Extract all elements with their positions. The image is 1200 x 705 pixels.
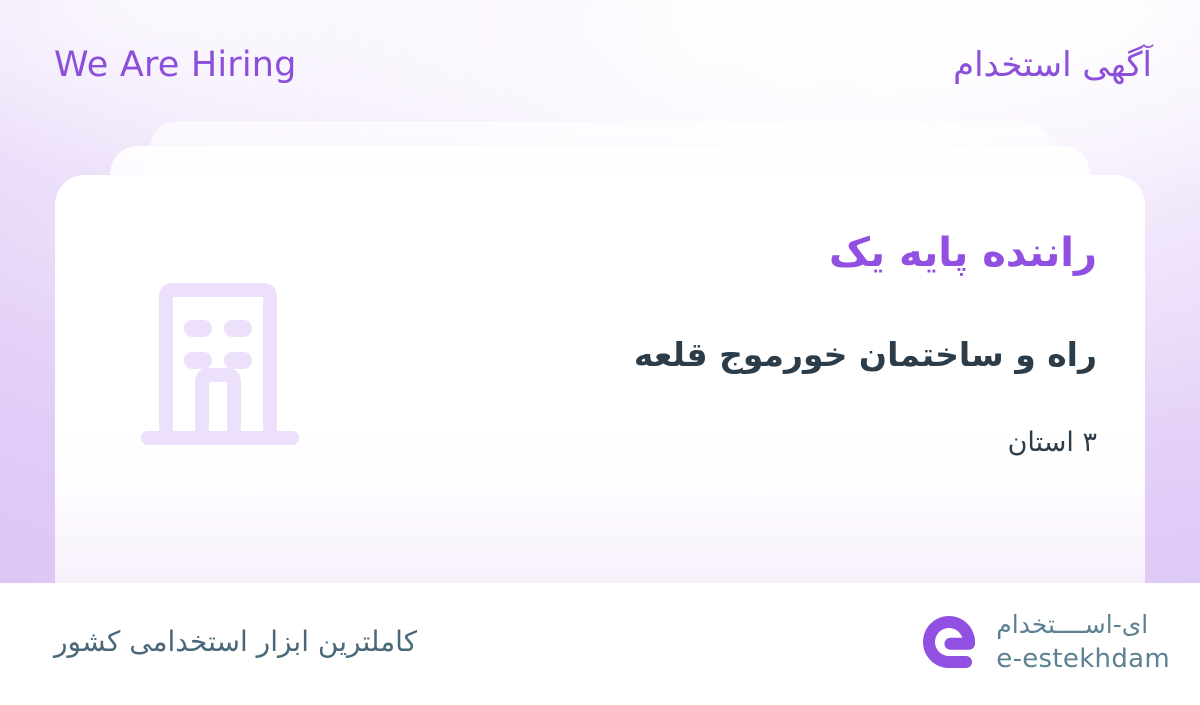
e-estekhdam-logo-mark-icon: [918, 611, 980, 673]
job-location: ۳ استان: [397, 423, 1097, 463]
job-ad-details: راننده پایه یک راه و ساختمان خورموج قلعه…: [397, 225, 1097, 463]
job-title: راننده پایه یک: [397, 225, 1097, 281]
footer-tagline: کاملترین ابزار استخدامی کشور: [54, 620, 417, 664]
brand-wordmark-fa: ای-اســــتخدام: [996, 608, 1148, 641]
job-ad-heading: آگهی استخدام: [953, 42, 1152, 88]
brand-wordmark: ای-اســــتخدام e-estekhdam: [996, 608, 1170, 676]
company-name: راه و ساختمان خورموج قلعه: [397, 331, 1097, 379]
building-icon: [140, 275, 300, 445]
job-ad-card: راننده پایه یک راه و ساختمان خورموج قلعه…: [55, 175, 1145, 583]
brand-logo[interactable]: ای-اســــتخدام e-estekhdam: [918, 608, 1170, 676]
hero-header: We Are Hiring آگهی استخدام: [0, 0, 1200, 122]
brand-wordmark-en: e-estekhdam: [996, 643, 1170, 676]
we-are-hiring-label: We Are Hiring: [54, 44, 297, 86]
job-ad-card-page: We Are Hiring آگهی استخدام: [0, 0, 1200, 705]
